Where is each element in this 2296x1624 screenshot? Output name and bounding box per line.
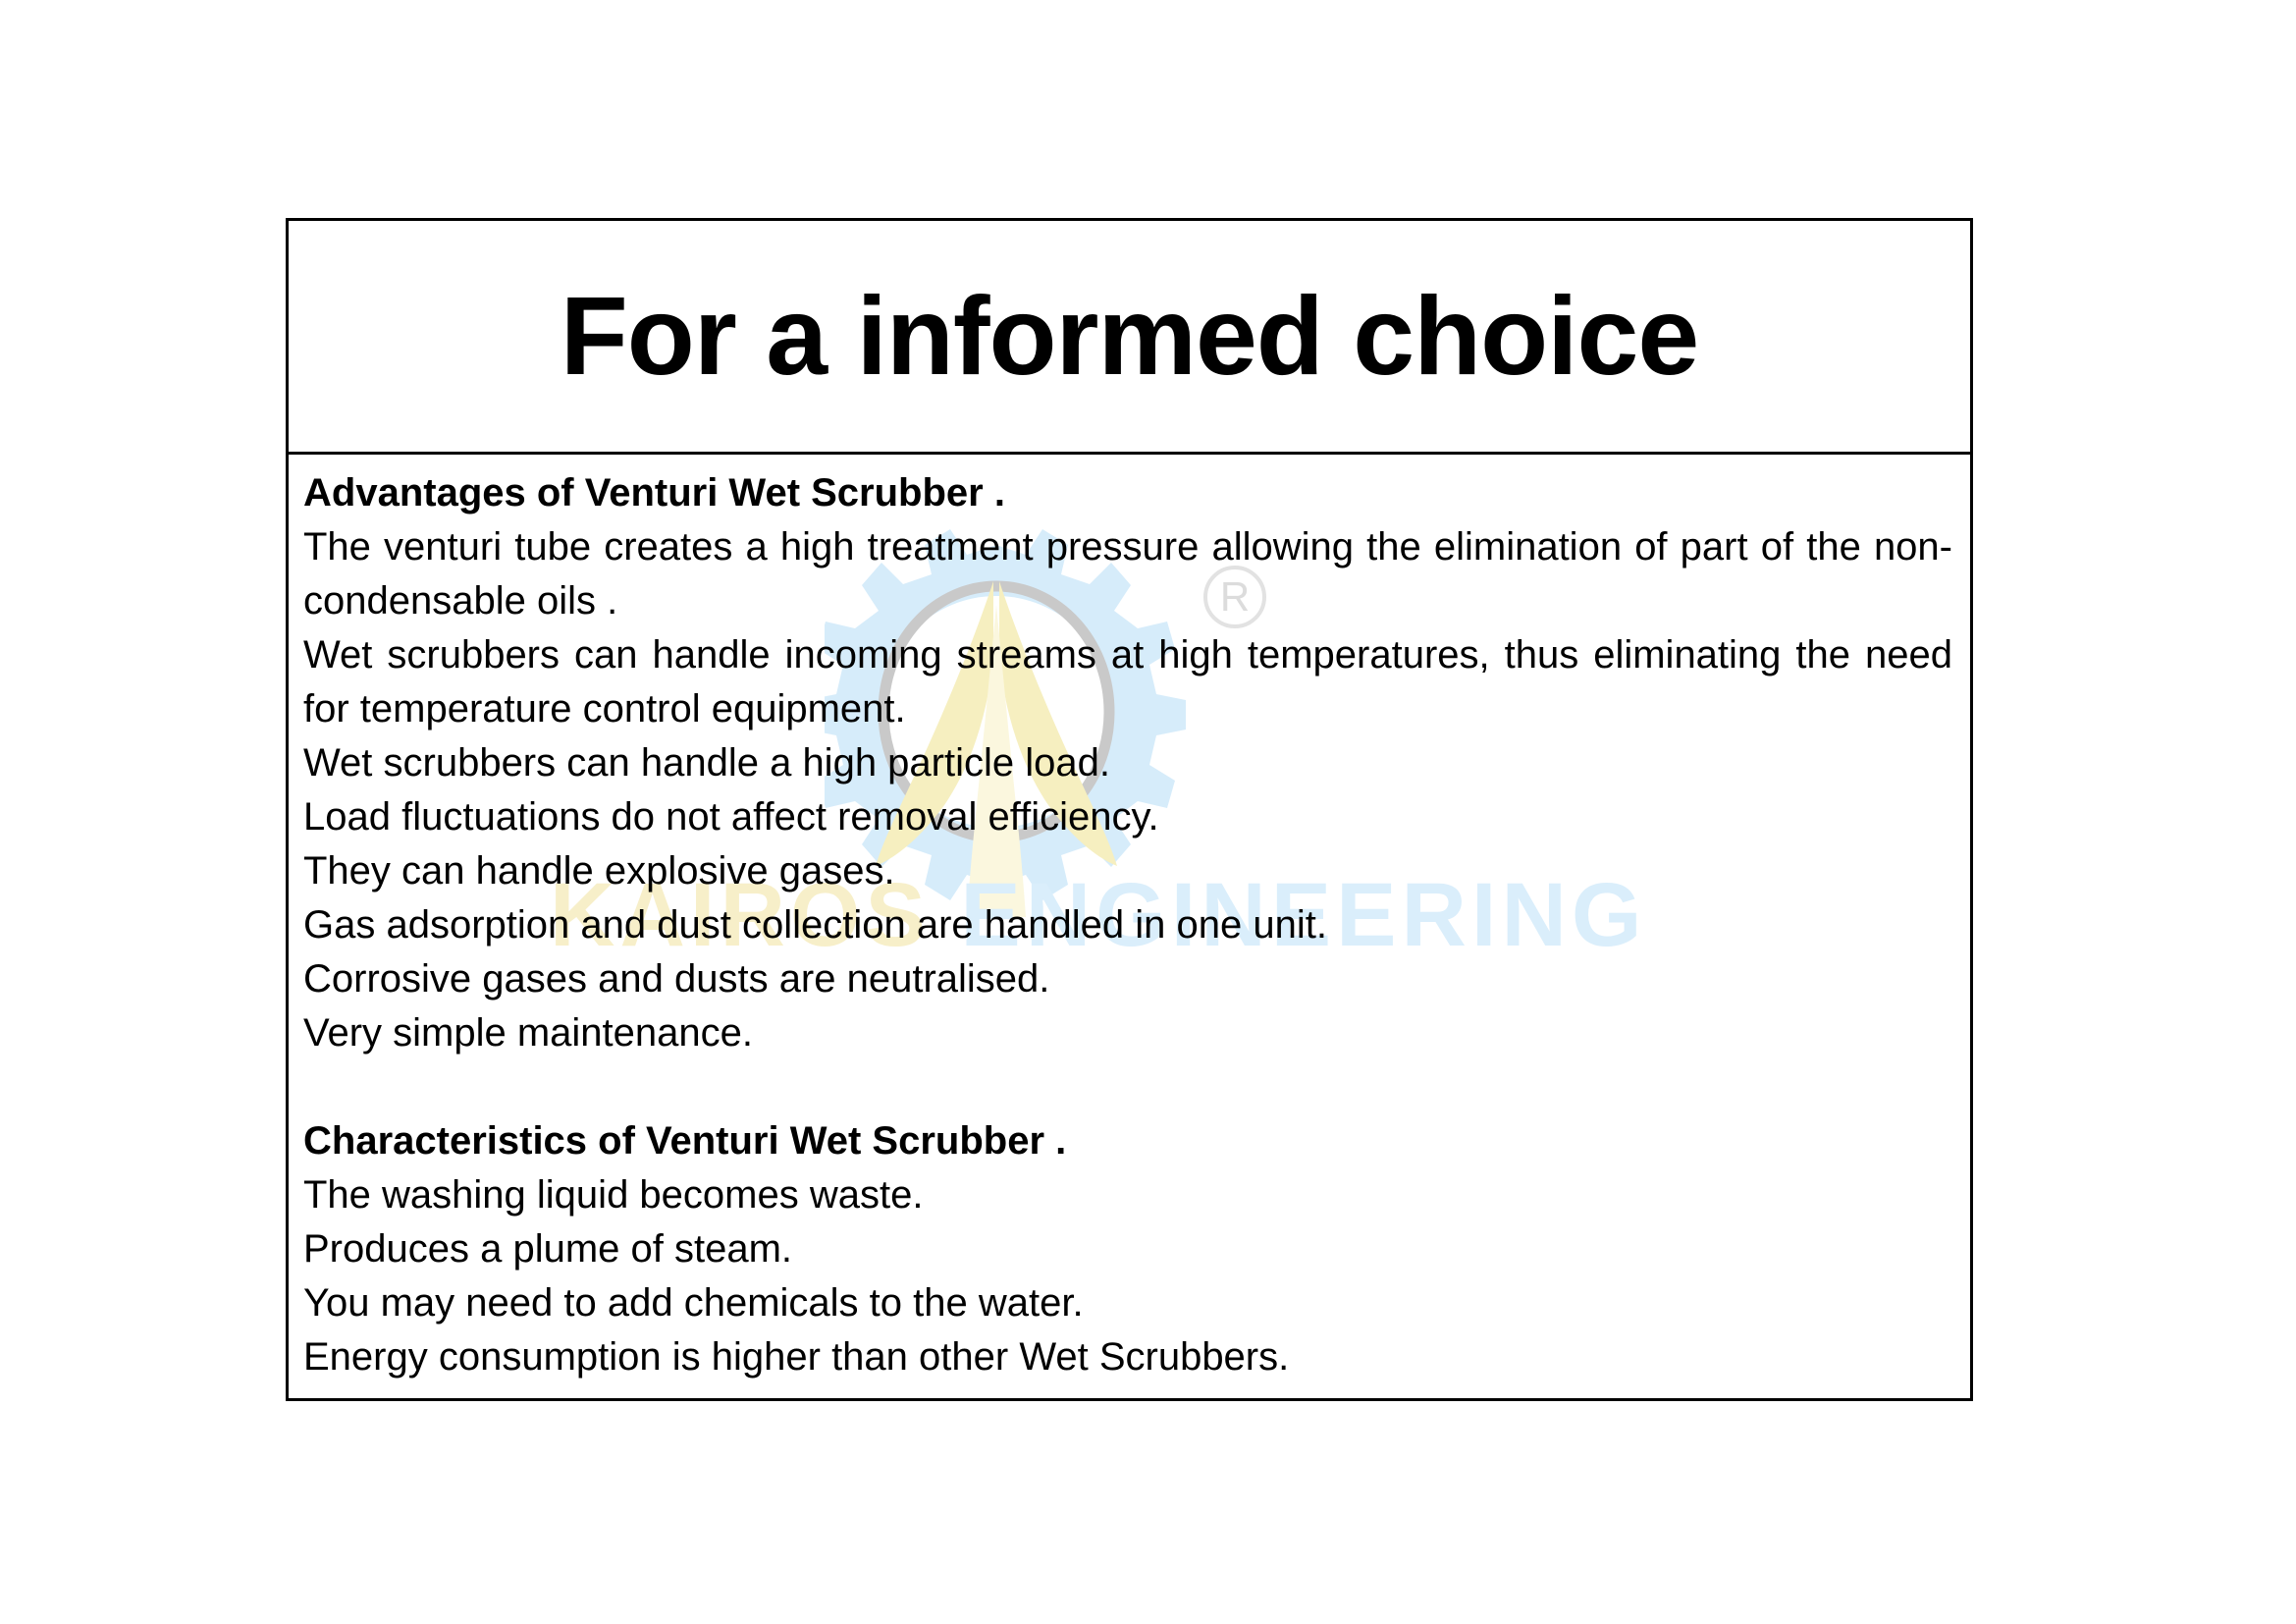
- slide-title-box: For a informed choice: [286, 218, 1973, 452]
- section-heading-characteristics: Characteristics of Venturi Wet Scrubber …: [303, 1114, 1952, 1168]
- section-heading-advantages: Advantages of Venturi Wet Scrubber .: [303, 466, 1952, 520]
- page-title: For a informed choice: [561, 281, 1698, 392]
- characteristic-line: The washing liquid becomes waste.: [303, 1168, 1952, 1222]
- slide-body-box: Advantages of Venturi Wet Scrubber . The…: [286, 452, 1973, 1401]
- advantage-line: Very simple maintenance.: [303, 1006, 1952, 1060]
- characteristic-line: You may need to add chemicals to the wat…: [303, 1276, 1952, 1330]
- advantage-line: Corrosive gases and dusts are neutralise…: [303, 952, 1952, 1006]
- advantage-line: They can handle explosive gases.: [303, 844, 1952, 898]
- advantage-line: Wet scrubbers can handle incoming stream…: [303, 628, 1952, 736]
- advantage-line: Gas adsorption and dust collection are h…: [303, 898, 1952, 952]
- advantage-line: Wet scrubbers can handle a high particle…: [303, 736, 1952, 790]
- section-spacer: [303, 1060, 1952, 1114]
- advantage-line: Load fluctuations do not affect removal …: [303, 790, 1952, 844]
- slide-container: For a informed choice Advantages of Vent…: [286, 218, 1973, 1401]
- advantage-line: The venturi tube creates a high treatmen…: [303, 520, 1952, 628]
- characteristic-line: Produces a plume of steam.: [303, 1222, 1952, 1276]
- characteristic-line: Energy consumption is higher than other …: [303, 1330, 1952, 1384]
